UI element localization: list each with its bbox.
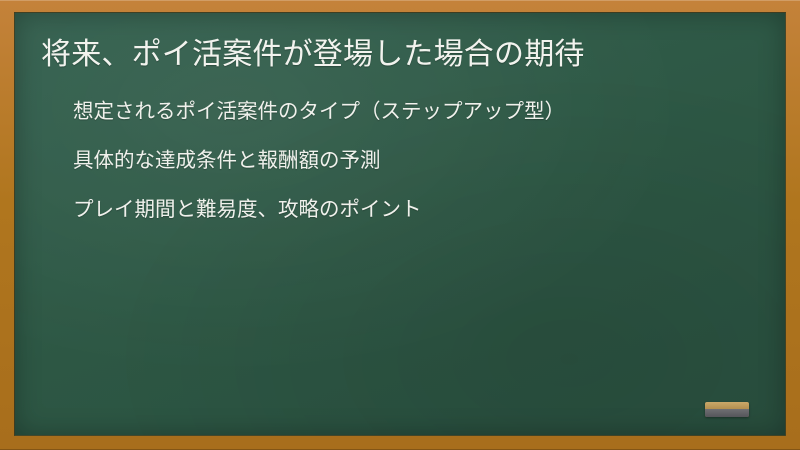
slide-chalkboard: 将来、ポイ活案件が登場した場合の期待 想定されるポイ活案件のタイプ（ステップアッ…: [0, 0, 800, 450]
chalk-eraser-icon: [705, 402, 749, 417]
bullet-item-2: 具体的な達成条件と報酬額の予測: [41, 146, 713, 175]
bullet-item-3: プレイ期間と難易度、攻略のポイント: [41, 195, 713, 224]
chalkboard-content: 将来、ポイ活案件が登場した場合の期待 想定されるポイ活案件のタイプ（ステップアッ…: [15, 13, 785, 435]
chalkboard-surface: 将来、ポイ活案件が登場した場合の期待 想定されるポイ活案件のタイプ（ステップアッ…: [14, 12, 786, 436]
slide-title: 将来、ポイ活案件が登場した場合の期待: [41, 35, 701, 75]
bullet-list: 想定されるポイ活案件のタイプ（ステップアップ型） 具体的な達成条件と報酬額の予測…: [41, 97, 741, 224]
bullet-item-1: 想定されるポイ活案件のタイプ（ステップアップ型）: [41, 97, 713, 126]
